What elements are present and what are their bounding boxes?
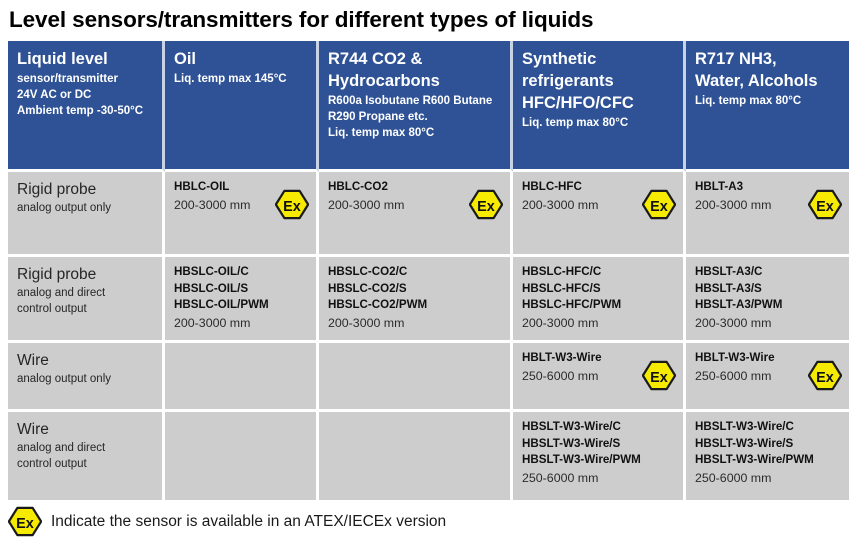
header-title-co2-1: Hydrocarbons	[328, 71, 501, 92]
header-subline-hfc-0: Liq. temp max 80°C	[522, 115, 674, 131]
product-cell-co2-0[interactable]: HBLC-CO2200-3000 mmEx	[319, 172, 513, 257]
product-cell-co2-2[interactable]	[319, 343, 513, 412]
table-row: Wireanalog and directcontrol outputHBSLT…	[8, 412, 849, 500]
product-code: HBSLT-A3/C	[695, 264, 840, 281]
header-subline-co2-2: Liq. temp max 80°C	[328, 125, 501, 141]
header-title-co2-0: R744 CO2 &	[328, 49, 501, 70]
row-header-subline-0: analog and direct	[17, 286, 153, 302]
row-header-subline-0: analog output only	[17, 372, 153, 388]
atex-ex-hexagon-icon: Ex	[808, 360, 842, 391]
product-cell-oil-1[interactable]: HBSLC-OIL/CHBSLC-OIL/SHBSLC-OIL/PWM200-3…	[165, 257, 319, 343]
row-header-title: Rigid probe	[17, 179, 153, 200]
page-title: Level sensors/transmitters for different…	[9, 3, 849, 37]
product-cell-oil-3[interactable]	[165, 412, 319, 500]
header-subline-rowhead-0: sensor/transmitter	[17, 71, 153, 87]
product-cell-nh3-0[interactable]: HBLT-A3200-3000 mmEx	[686, 172, 849, 257]
row-header-title: Rigid probe	[17, 264, 153, 285]
product-code: HBSLT-W3-Wire/S	[522, 436, 674, 453]
header-cell-nh3: R717 NH3,Water, AlcoholsLiq. temp max 80…	[686, 41, 849, 172]
product-code: HBSLT-A3/PWM	[695, 297, 840, 314]
atex-legend-text: Indicate the sensor is available in an A…	[51, 512, 446, 532]
product-code: HBSLC-CO2/S	[328, 281, 501, 298]
row-header-title: Wire	[17, 419, 153, 440]
row-header-cell-1: Rigid probeanalog and directcontrol outp…	[8, 257, 165, 343]
product-range: 250-6000 mm	[522, 470, 674, 487]
svg-text:Ex: Ex	[16, 516, 34, 532]
product-code: HBSLC-OIL/S	[174, 281, 307, 298]
atex-ex-hexagon-icon: Ex	[642, 360, 676, 391]
atex-ex-hexagon-icon: Ex	[469, 189, 503, 220]
product-cell-co2-1[interactable]: HBSLC-CO2/CHBSLC-CO2/SHBSLC-CO2/PWM200-3…	[319, 257, 513, 343]
product-cell-co2-3[interactable]	[319, 412, 513, 500]
product-range: 250-6000 mm	[695, 470, 840, 487]
product-range: 200-3000 mm	[328, 315, 501, 332]
table-row: Rigid probeanalog output onlyHBLC-OIL200…	[8, 172, 849, 257]
product-code: HBSLC-OIL/PWM	[174, 297, 307, 314]
row-header-cell-3: Wireanalog and directcontrol output	[8, 412, 165, 500]
product-cell-nh3-1[interactable]: HBSLT-A3/CHBSLT-A3/SHBSLT-A3/PWM200-3000…	[686, 257, 849, 343]
product-cell-hfc-3[interactable]: HBSLT-W3-Wire/CHBSLT-W3-Wire/SHBSLT-W3-W…	[513, 412, 686, 500]
product-range: 200-3000 mm	[695, 315, 840, 332]
atex-ex-hexagon-icon: Ex	[808, 189, 842, 220]
product-code: HBSLC-OIL/C	[174, 264, 307, 281]
product-range: 200-3000 mm	[522, 315, 674, 332]
header-subline-rowhead-2: Ambient temp -30-50°C	[17, 103, 153, 119]
row-header-cell-2: Wireanalog output only	[8, 343, 165, 412]
page-root: Level sensors/transmitters for different…	[0, 0, 857, 560]
svg-text:Ex: Ex	[816, 199, 834, 215]
product-code: HBSLT-W3-Wire/S	[695, 436, 840, 453]
product-cell-hfc-2[interactable]: HBLT-W3-Wire250-6000 mmEx	[513, 343, 686, 412]
product-code: HBSLT-W3-Wire/PWM	[522, 452, 674, 469]
atex-ex-hexagon-icon: Ex	[275, 189, 309, 220]
row-header-subline-0: analog output only	[17, 201, 153, 217]
header-subline-rowhead-1: 24V AC or DC	[17, 87, 153, 103]
svg-text:Ex: Ex	[650, 199, 668, 215]
header-title-oil-0: Oil	[174, 49, 307, 70]
product-code: HBSLC-HFC/S	[522, 281, 674, 298]
header-title-rowhead-0: Liquid level	[17, 49, 153, 70]
product-cell-oil-2[interactable]	[165, 343, 319, 412]
product-cell-hfc-1[interactable]: HBSLC-HFC/CHBSLC-HFC/SHBSLC-HFC/PWM200-3…	[513, 257, 686, 343]
product-code: HBSLT-W3-Wire/C	[695, 419, 840, 436]
header-title-hfc-0: Synthetic	[522, 49, 674, 70]
header-title-nh3-0: R717 NH3,	[695, 49, 840, 70]
atex-ex-hexagon-icon: Ex	[8, 506, 42, 537]
header-subline-co2-0: R600a Isobutane R600 Butane	[328, 93, 501, 109]
product-range: 200-3000 mm	[174, 315, 307, 332]
svg-text:Ex: Ex	[650, 370, 668, 386]
table-row: Rigid probeanalog and directcontrol outp…	[8, 257, 849, 343]
header-cell-hfc: SyntheticrefrigerantsHFC/HFO/CFCLiq. tem…	[513, 41, 686, 172]
product-cell-nh3-3[interactable]: HBSLT-W3-Wire/CHBSLT-W3-Wire/SHBSLT-W3-W…	[686, 412, 849, 500]
atex-legend: Ex Indicate the sensor is available in a…	[8, 506, 446, 537]
product-code: HBSLC-CO2/PWM	[328, 297, 501, 314]
product-code: HBSLC-CO2/C	[328, 264, 501, 281]
product-cell-oil-0[interactable]: HBLC-OIL200-3000 mmEx	[165, 172, 319, 257]
svg-text:Ex: Ex	[283, 199, 301, 215]
header-cell-rowhead: Liquid levelsensor/transmitter24V AC or …	[8, 41, 165, 172]
row-header-title: Wire	[17, 350, 153, 371]
header-title-hfc-1: refrigerants	[522, 71, 674, 92]
svg-text:Ex: Ex	[477, 199, 495, 215]
header-subline-co2-1: R290 Propane etc.	[328, 109, 501, 125]
product-code: HBSLC-HFC/C	[522, 264, 674, 281]
header-subline-nh3-0: Liq. temp max 80°C	[695, 93, 840, 109]
product-code: HBSLT-W3-Wire/C	[522, 419, 674, 436]
product-code: HBSLT-W3-Wire/PWM	[695, 452, 840, 469]
row-header-subline-1: control output	[17, 302, 153, 318]
product-cell-hfc-0[interactable]: HBLC-HFC200-3000 mmEx	[513, 172, 686, 257]
svg-text:Ex: Ex	[816, 370, 834, 386]
table-header-row: Liquid levelsensor/transmitter24V AC or …	[8, 41, 849, 172]
row-header-subline-1: control output	[17, 457, 153, 473]
product-matrix-table: Liquid levelsensor/transmitter24V AC or …	[8, 41, 849, 500]
header-cell-co2: R744 CO2 &HydrocarbonsR600a Isobutane R6…	[319, 41, 513, 172]
header-subline-oil-0: Liq. temp max 145°C	[174, 71, 307, 87]
row-header-cell-0: Rigid probeanalog output only	[8, 172, 165, 257]
header-cell-oil: OilLiq. temp max 145°C	[165, 41, 319, 172]
atex-ex-hexagon-icon: Ex	[642, 189, 676, 220]
product-code: HBSLT-A3/S	[695, 281, 840, 298]
header-title-nh3-1: Water, Alcohols	[695, 71, 840, 92]
row-header-subline-0: analog and direct	[17, 441, 153, 457]
product-code: HBSLC-HFC/PWM	[522, 297, 674, 314]
header-title-hfc-2: HFC/HFO/CFC	[522, 93, 674, 114]
table-row: Wireanalog output onlyHBLT-W3-Wire250-60…	[8, 343, 849, 412]
product-cell-nh3-2[interactable]: HBLT-W3-Wire250-6000 mmEx	[686, 343, 849, 412]
